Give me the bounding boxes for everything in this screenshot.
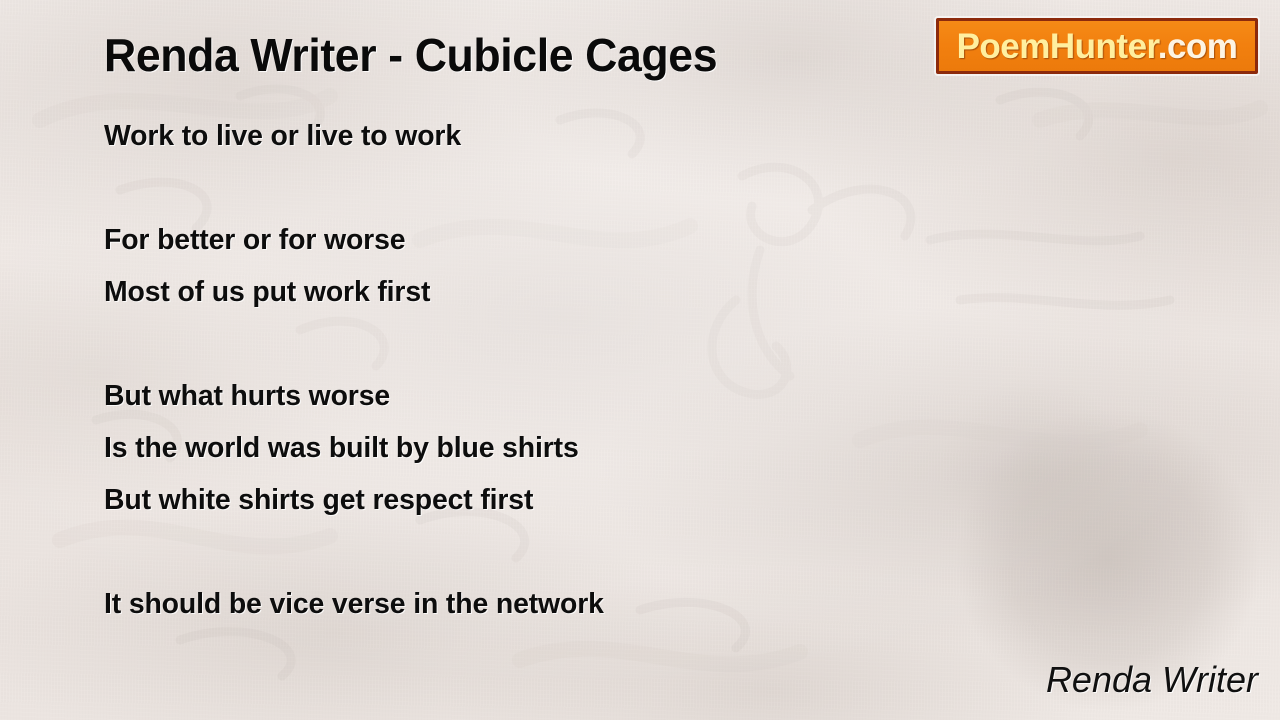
author-signature: Renda Writer: [1046, 658, 1258, 702]
page-title: Renda Writer - Cubicle Cages: [104, 27, 717, 83]
poemhunter-logo[interactable]: PoemHunter.com: [936, 18, 1258, 74]
poem-line: Work to live or live to work: [104, 110, 898, 162]
poem-line-blank: [104, 526, 898, 578]
logo-text-poem: PoemHunter: [957, 27, 1158, 66]
poem-line-blank: [104, 162, 898, 214]
poem-body: Work to live or live to workFor better o…: [104, 110, 914, 630]
poem-line: Is the world was built by blue shirts: [104, 422, 898, 474]
poemhunter-logo-text: PoemHunter.com: [957, 29, 1238, 64]
poem-line: Most of us put work first: [104, 266, 898, 318]
logo-text-hunter: .com: [1158, 27, 1238, 66]
poem-line: It should be vice verse in the network: [104, 578, 898, 630]
poem-card: Renda Writer - Cubicle Cages PoemHunter.…: [0, 0, 1280, 720]
poem-line: But what hurts worse: [104, 370, 898, 422]
poem-line-blank: [104, 318, 898, 370]
poem-line: But white shirts get respect first: [104, 474, 898, 526]
poem-line: For better or for worse: [104, 214, 898, 266]
